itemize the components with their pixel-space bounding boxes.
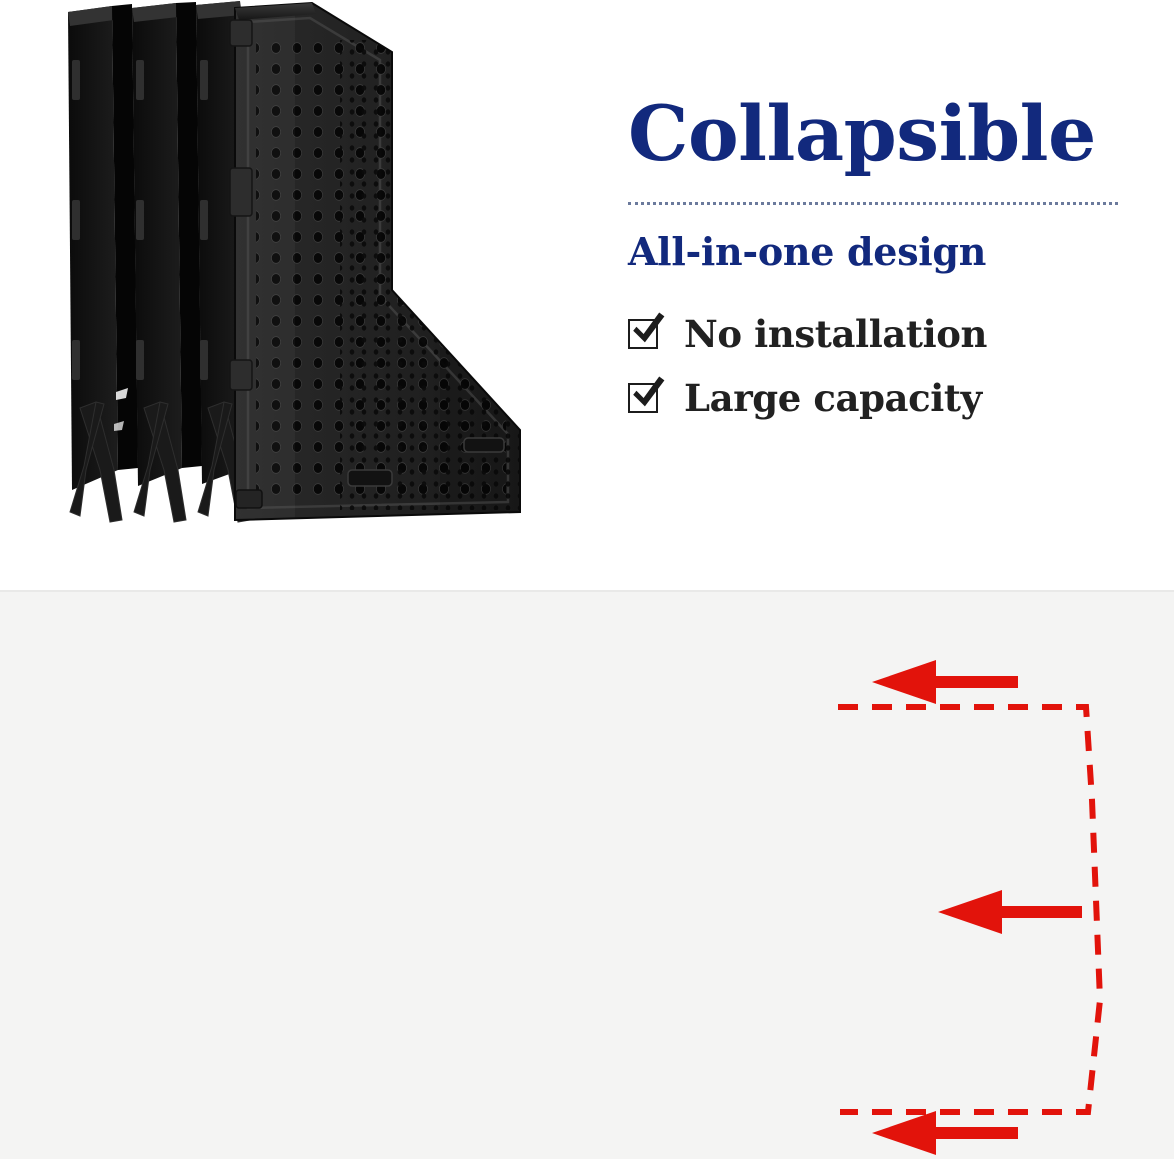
collapsed-black-organizer-photo xyxy=(60,0,580,560)
feature-label: No installation xyxy=(684,312,987,356)
section-collapsible: Collapsible All-in-one design No install… xyxy=(0,0,1174,592)
infographic-page: Collapsible All-in-one design No install… xyxy=(0,0,1174,1159)
list-item: No installation xyxy=(628,312,1128,356)
checkbox-checked-icon xyxy=(628,383,658,413)
checkbox-checked-icon xyxy=(628,319,658,349)
subheading-all-in-one: All-in-one design xyxy=(628,205,1128,274)
page-title-collapsible: Collapsible xyxy=(628,96,1128,172)
section-freely-retractable: Freely retractable Space saving xyxy=(0,592,1174,1159)
feature-list-collapsible: No installation Large capacity xyxy=(628,274,1128,420)
collapsible-copy-block: Collapsible All-in-one design No install… xyxy=(628,96,1128,440)
perforated-side-panel xyxy=(230,0,520,560)
list-item: Large capacity xyxy=(628,376,1128,420)
feature-label: Large capacity xyxy=(684,376,982,420)
